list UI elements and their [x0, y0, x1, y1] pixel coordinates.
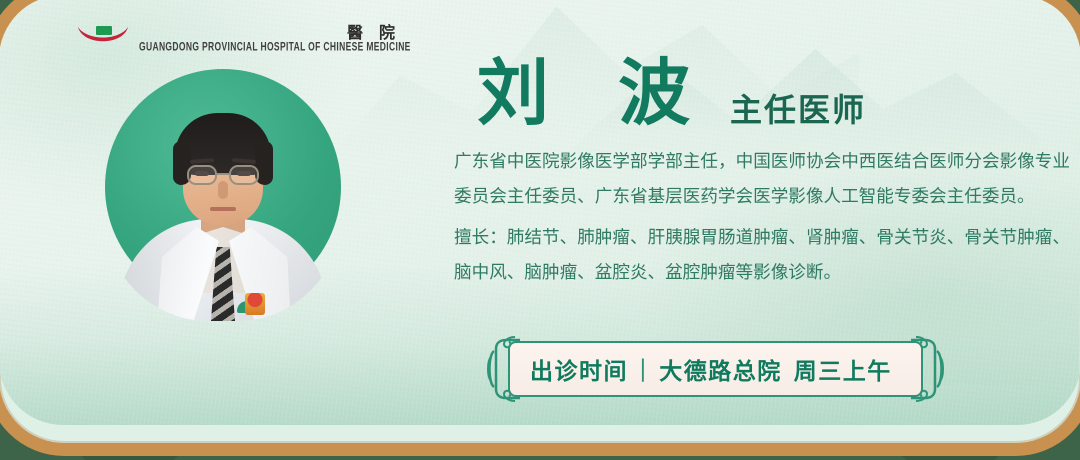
- bio-paragraph-2: 擅长：肺结节、肺肿瘤、肝胰腺胃肠道肿瘤、肾肿瘤、骨关节炎、骨关节肿瘤、脑中风、脑…: [454, 221, 1070, 291]
- banner-location: 大德路总院: [659, 352, 782, 386]
- bio-paragraph-1: 广东省中医院影像医学部学部主任，中国医师协会中西医结合医师分会影像专业委员会主任…: [454, 145, 1070, 215]
- banner-text: 出诊时间 | 大德路总院 周三上午: [486, 337, 945, 401]
- doctor-portrait: [105, 69, 341, 321]
- nose: [218, 181, 228, 199]
- hospital-name-group: 醫院 GUANGDONG PROVINCIAL HOSPITAL OF CHIN…: [139, 21, 411, 49]
- doctor-title: 主任医师: [730, 94, 866, 126]
- gold-frame-border: 醫院 GUANGDONG PROVINCIAL HOSPITAL OF CHIN…: [0, 0, 1080, 456]
- hospital-logo-block: 醫院 GUANGDONG PROVINCIAL HOSPITAL OF CHIN…: [75, 21, 411, 51]
- banner-time: 周三上午: [794, 352, 892, 386]
- mouth: [210, 207, 236, 211]
- card-inner-page: 醫院 GUANGDONG PROVINCIAL HOSPITAL OF CHIN…: [0, 0, 1080, 425]
- glasses-lens-right: [229, 165, 259, 185]
- hospital-name-en: GUANGDONG PROVINCIAL HOSPITAL OF CHINESE…: [139, 39, 411, 54]
- banner-label: 出诊时间: [530, 352, 628, 386]
- doctor-bio: 广东省中医院影像医学部学部主任，中国医师协会中西医结合医师分会影像专业委员会主任…: [454, 145, 1070, 291]
- glasses-lens-left: [187, 165, 217, 185]
- doctor-name: 刘 波: [477, 57, 712, 129]
- glasses-bridge: [217, 173, 229, 175]
- portrait-figure: [105, 69, 341, 321]
- banner-separator: |: [639, 356, 648, 382]
- doctor-profile-card: 醫院 GUANGDONG PROVINCIAL HOSPITAL OF CHIN…: [0, 0, 1080, 460]
- consultation-banner: 出诊时间 | 大德路总院 周三上午: [486, 337, 945, 401]
- crescent-logo-icon: [75, 21, 131, 51]
- coat-shading: [119, 219, 327, 321]
